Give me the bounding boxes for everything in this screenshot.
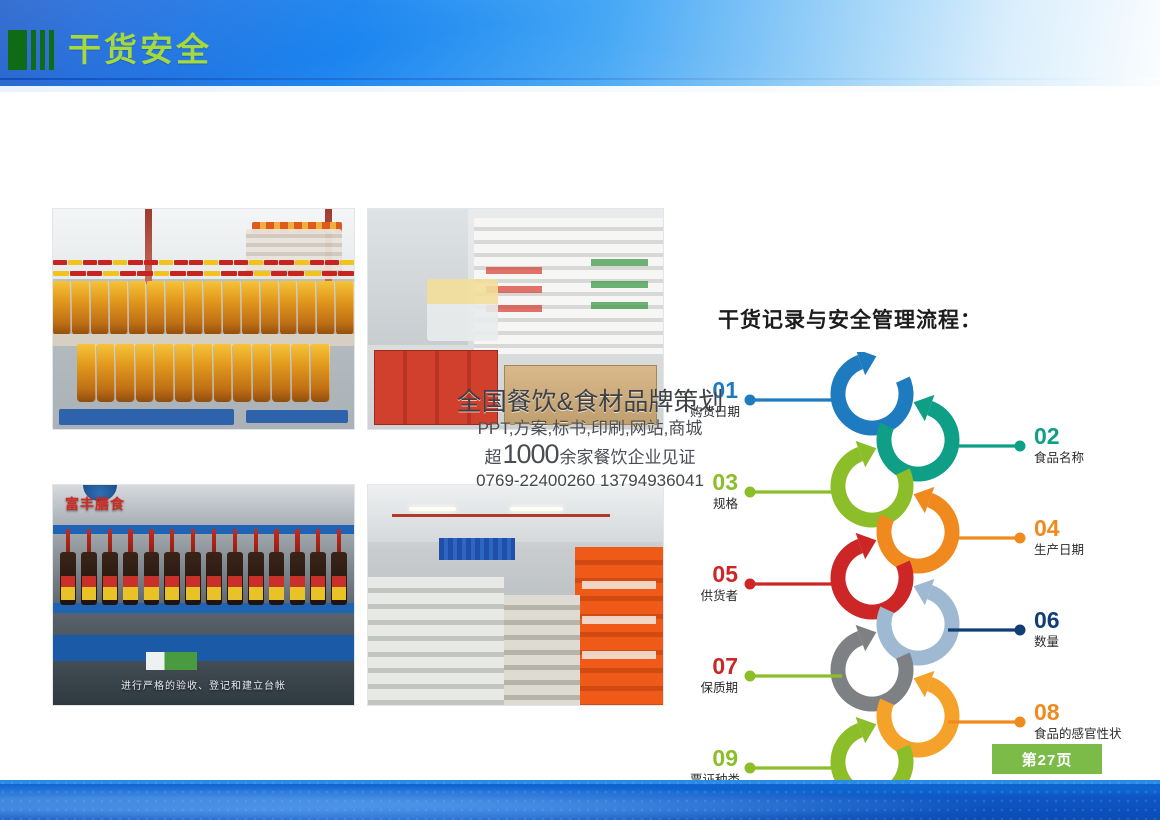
flow-step-label-06: 数量	[1034, 634, 1060, 651]
flow-step-02[interactable]: 02食品名称	[1034, 424, 1084, 467]
flow-step-label-08: 食品的感官性状	[1034, 726, 1122, 743]
flow-step-number-05: 05	[690, 562, 738, 586]
flow-step-number-04: 04	[1034, 516, 1084, 540]
watermark-line-3-suffix: 余家餐饮企业见证	[560, 449, 696, 466]
photo-dry-goods-storage	[367, 208, 664, 430]
footer-texture	[0, 780, 1160, 820]
flow-dot-02	[1015, 441, 1026, 452]
photo-sauce-logo: 富丰膳食	[65, 494, 125, 514]
flow-step-label-02: 食品名称	[1034, 450, 1084, 467]
flow-dot-09	[745, 763, 756, 774]
slide-header: 干货安全	[0, 0, 1160, 92]
flow-step-05[interactable]: 05供货者	[690, 562, 738, 605]
page-title: 干货安全	[68, 28, 212, 72]
flow-step-06[interactable]: 06数量	[1034, 608, 1060, 651]
flow-dot-03	[745, 487, 756, 498]
flow-step-number-01: 01	[690, 378, 738, 402]
flow-step-label-07: 保质期	[690, 680, 738, 697]
header-edge-line	[0, 78, 1160, 80]
flow-step-01[interactable]: 01购货日期	[690, 378, 738, 421]
slide-body: 富丰膳食 进行严格的验收、登记和建立台帐	[0, 92, 1160, 780]
flow-step-number-07: 07	[690, 654, 738, 678]
flow-step-number-06: 06	[1034, 608, 1060, 632]
photo-sauce-caption: 进行严格的验收、登记和建立台帐	[53, 677, 354, 692]
footer-strip	[0, 780, 1160, 820]
flow-step-label-03: 规格	[690, 496, 738, 513]
flow-arc-01	[838, 362, 906, 428]
flow-step-label-05: 供货者	[690, 588, 738, 605]
page-number-badge: 第27页	[992, 744, 1102, 774]
photo-sauce-shelf-tag	[146, 652, 197, 670]
watermark-line-3-number: 1000	[502, 441, 558, 468]
flow-step-number-03: 03	[690, 470, 738, 494]
flow-step-number-08: 08	[1034, 700, 1122, 724]
flow-dot-08	[1015, 717, 1026, 728]
photo-oil-warehouse	[52, 208, 355, 430]
flow-dot-06	[1015, 625, 1026, 636]
green-bars-icon	[8, 30, 60, 70]
flow-step-03[interactable]: 03规格	[690, 470, 738, 513]
photo-sauce-shelf: 富丰膳食 进行严格的验收、登记和建立台帐	[52, 484, 355, 706]
flow-dot-05	[745, 579, 756, 590]
flow-step-07[interactable]: 07保质期	[690, 654, 738, 697]
flow-title: 干货记录与安全管理流程：	[718, 304, 982, 334]
flow-step-label-04: 生产日期	[1034, 542, 1084, 559]
flow-dot-01	[745, 395, 756, 406]
flow-step-label-01: 购货日期	[690, 404, 738, 421]
watermark-line-3: 超1000余家餐饮企业见证	[455, 441, 725, 468]
watermark-line-3-prefix: 超	[484, 449, 501, 466]
flow-step-number-02: 02	[1034, 424, 1084, 448]
flow-step-08[interactable]: 08食品的感官性状	[1034, 700, 1122, 743]
flow-dot-04	[1015, 533, 1026, 544]
flow-dot-07	[745, 671, 756, 682]
flow-step-number-09: 09	[690, 746, 738, 770]
flow-step-04[interactable]: 04生产日期	[1034, 516, 1084, 559]
photo-grain-warehouse	[367, 484, 664, 706]
